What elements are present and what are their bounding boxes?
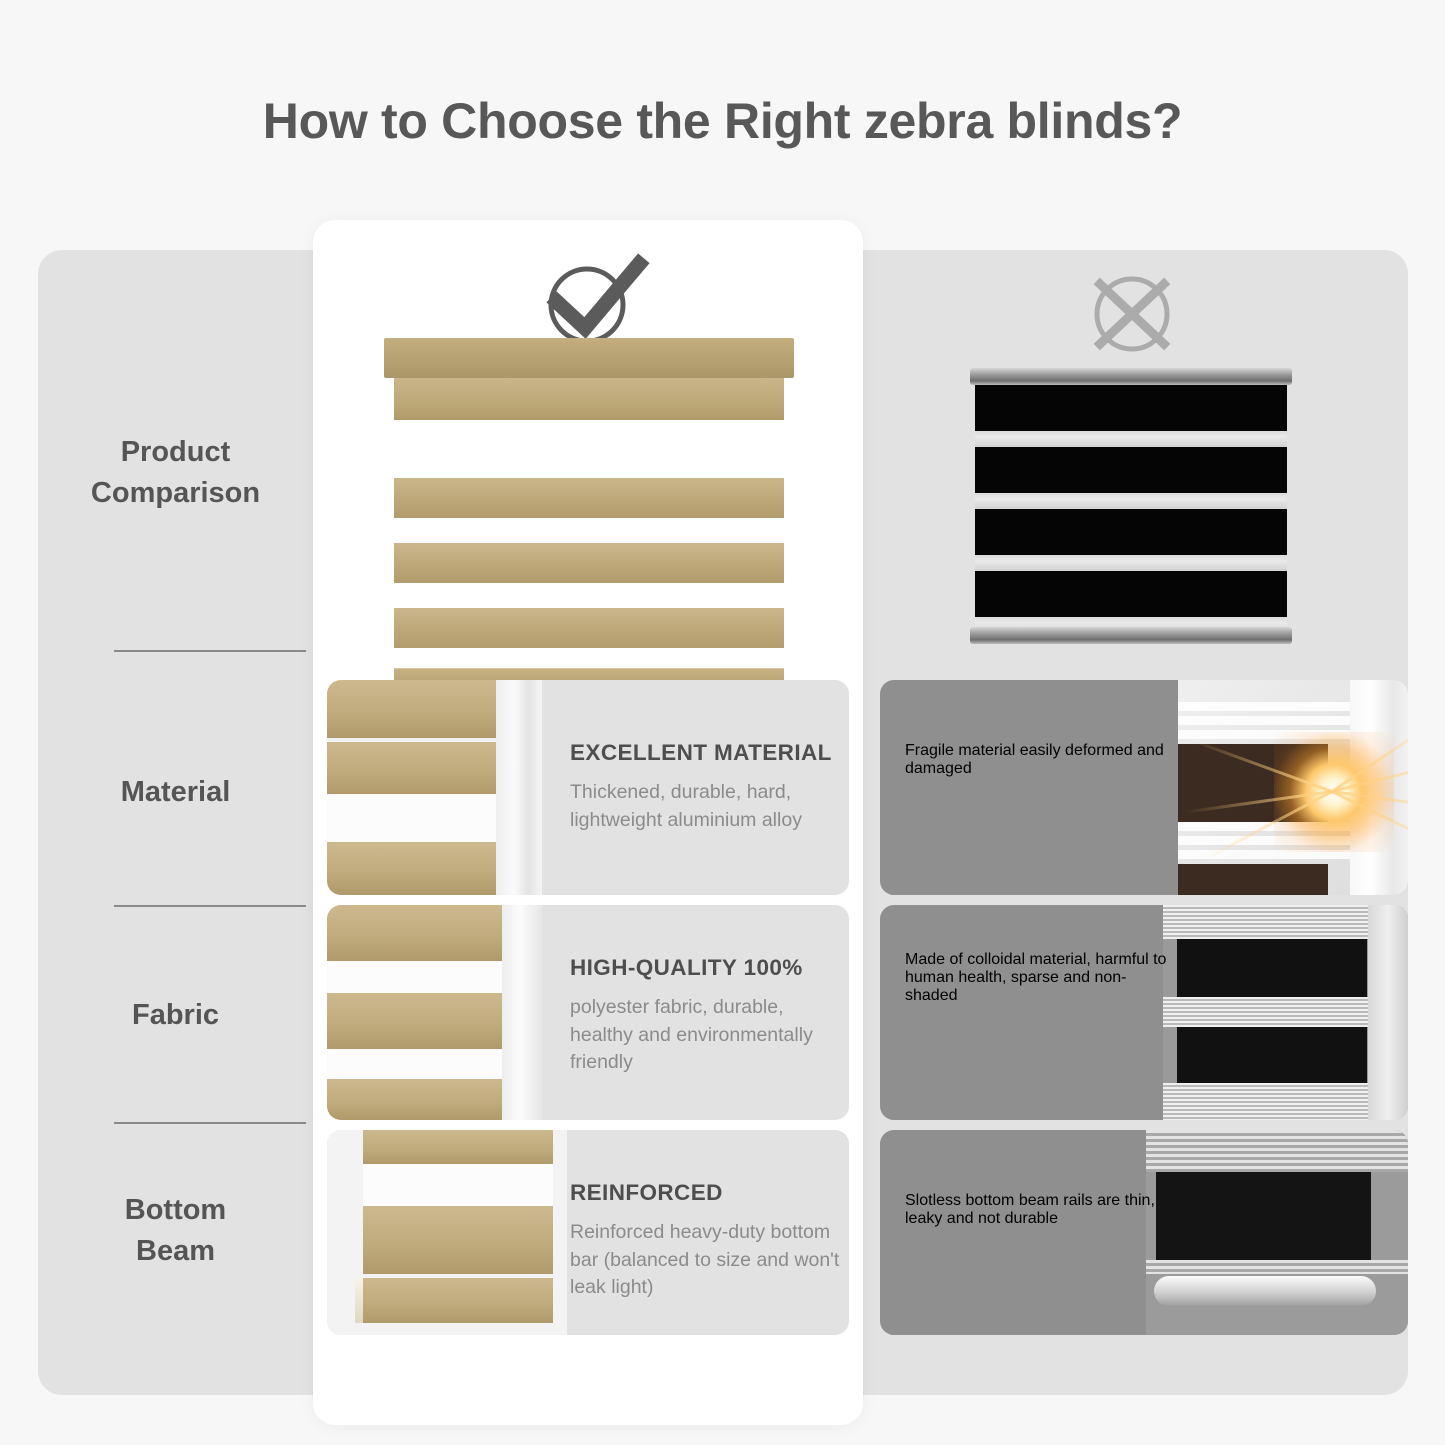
material-good-heading: EXCELLENT MATERIAL: [570, 740, 838, 766]
bottombeam-bad-photo: [1146, 1130, 1408, 1335]
material-good-body: Thickened, durable, hard, lightweight al…: [570, 779, 838, 834]
blind-headrail: [970, 368, 1292, 385]
fabric-good-photo: [327, 905, 542, 1120]
row-label-line1: Product: [121, 436, 231, 468]
cross-circle-icon: [1082, 268, 1182, 360]
fabric-good-heading: HIGH-QUALITY 100%: [570, 955, 849, 981]
row-label-line1: Bottom: [125, 1194, 226, 1226]
bottombeam-good-body: Reinforced heavy-duty bottom bar (balanc…: [570, 1219, 849, 1302]
fabric-good-text: HIGH-QUALITY 100% polyester fabric, dura…: [570, 955, 849, 1077]
page-title: How to Choose the Right zebra blinds?: [0, 92, 1445, 150]
bottom-rail: [1154, 1276, 1376, 1306]
row-label-line2: Beam: [136, 1235, 215, 1267]
row-divider-1: [114, 650, 306, 652]
material-good-text: EXCELLENT MATERIAL Thickened, durable, h…: [570, 740, 838, 834]
row-label-column: Product Comparison Material Fabric Botto…: [38, 250, 313, 1395]
blind-slat: [394, 478, 784, 518]
feature-card-bottombeam-good: REINFORCED Reinforced heavy-duty bottom …: [327, 1130, 849, 1335]
row-label-line2: Comparison: [91, 477, 260, 509]
material-good-photo: [327, 680, 542, 895]
blind-slat: [394, 543, 784, 583]
blind-headrail: [384, 338, 794, 378]
fabric-good-body: polyester fabric, durable, healthy and e…: [570, 994, 849, 1077]
check-circle-icon: [535, 250, 655, 350]
row-label-bottom-beam: Bottom Beam: [38, 1190, 313, 1272]
row-divider-2: [114, 905, 306, 907]
blind-slat: [394, 608, 784, 648]
row-divider-3: [114, 1122, 306, 1124]
row-label-product-comparison: Product Comparison: [38, 432, 313, 514]
blind-fabric: [975, 385, 1287, 627]
bottombeam-good-text: REINFORCED Reinforced heavy-duty bottom …: [570, 1180, 849, 1302]
comparison-infographic: How to Choose the Right zebra blinds? Pr…: [0, 0, 1445, 1445]
fabric-bad-text: Made of colloidal material, harmful to h…: [905, 951, 1175, 1005]
row-label-fabric: Fabric: [38, 995, 313, 1036]
feature-card-fabric-bad: Made of colloidal material, harmful to h…: [880, 905, 1408, 1120]
bottombeam-good-heading: REINFORCED: [570, 1180, 849, 1206]
feature-card-bottombeam-bad: Slotless bottom beam rails are thin, lea…: [880, 1130, 1408, 1335]
feature-card-material-good: EXCELLENT MATERIAL Thickened, durable, h…: [327, 680, 849, 895]
material-bad-photo: [1178, 680, 1408, 895]
bottombeam-bad-text: Slotless bottom beam rails are thin, lea…: [905, 1192, 1167, 1228]
bottombeam-good-photo: [327, 1130, 567, 1335]
hero-blind-good: [384, 338, 794, 668]
feature-card-fabric-good: HIGH-QUALITY 100% polyester fabric, dura…: [327, 905, 849, 1120]
fabric-bad-photo: [1163, 905, 1408, 1120]
material-bad-text: Fragile material easily deformed and dam…: [905, 742, 1167, 778]
blind-bottom-bar: [970, 627, 1292, 644]
row-label-material: Material: [38, 772, 313, 813]
feature-card-material-bad: Fragile material easily deformed and dam…: [880, 680, 1408, 895]
hero-blind-bad: [970, 368, 1292, 644]
